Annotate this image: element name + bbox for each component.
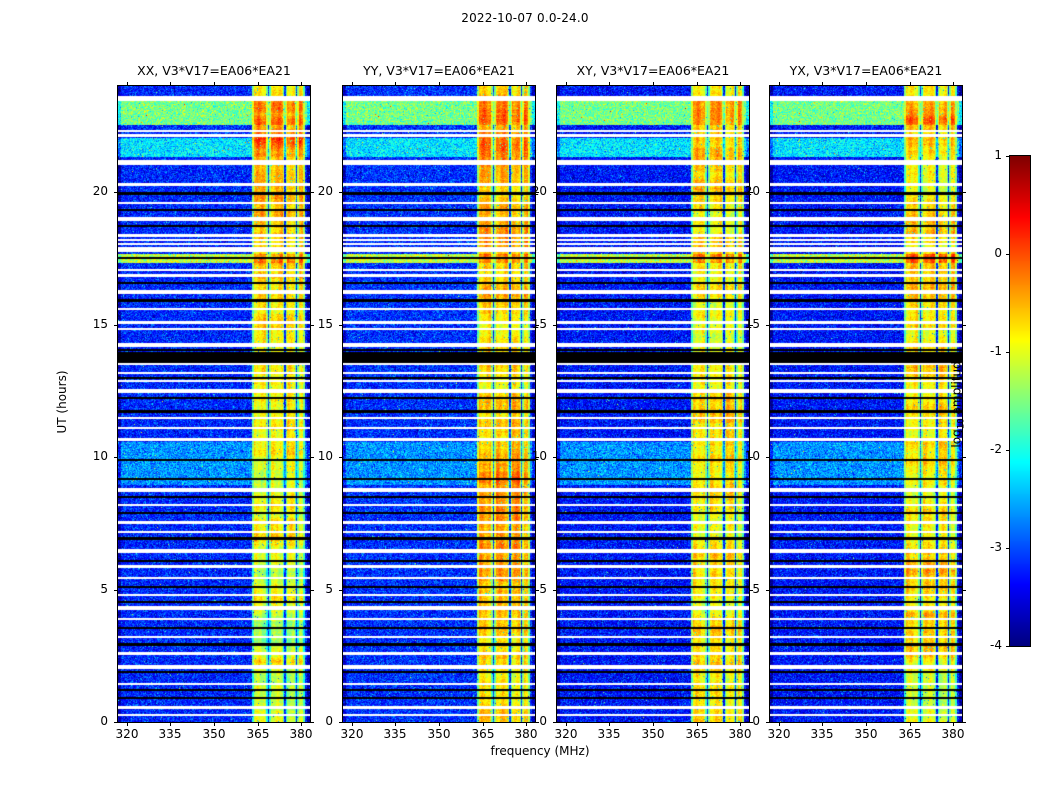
x-tick-label-yx-350: 350 bbox=[846, 727, 886, 741]
y-tick-label-xy-15: 15 bbox=[517, 317, 547, 331]
x-tick-top-yy-320 bbox=[352, 82, 353, 86]
x-tick-label-yy-320: 320 bbox=[332, 727, 372, 741]
y-tick-xy-15 bbox=[553, 325, 557, 326]
colorbar-gradient bbox=[1010, 156, 1030, 646]
y-tick-label-yy-20: 20 bbox=[303, 184, 333, 198]
x-tick-yx-320 bbox=[779, 722, 780, 726]
y-axis-label: UT (hours) bbox=[55, 357, 69, 447]
y-tick-yy-5 bbox=[339, 590, 343, 591]
y-tick-label-yy-10: 10 bbox=[303, 449, 333, 463]
y-tick-right-yx-5 bbox=[962, 590, 966, 591]
colorbar-label: log10 amplitude bbox=[949, 341, 966, 461]
y-tick-right-yx-0 bbox=[962, 722, 966, 723]
y-tick-label-xy-20: 20 bbox=[517, 184, 547, 198]
x-axis-label: frequency (MHz) bbox=[390, 744, 690, 758]
x-tick-yx-350 bbox=[866, 722, 867, 726]
x-tick-top-yy-380 bbox=[526, 82, 527, 86]
y-tick-label-yy-15: 15 bbox=[303, 317, 333, 331]
x-tick-top-xx-350 bbox=[214, 82, 215, 86]
waterfall-image-xy bbox=[557, 86, 749, 722]
x-tick-yx-335 bbox=[822, 722, 823, 726]
x-tick-top-xx-365 bbox=[258, 82, 259, 86]
waterfall-panel-yx[interactable]: YX, V3*V17=EA06*EA21 bbox=[769, 85, 963, 723]
x-tick-label-yy-335: 335 bbox=[375, 727, 415, 741]
panel-title-yx: YX, V3*V17=EA06*EA21 bbox=[736, 63, 996, 78]
x-tick-label-yx-320: 320 bbox=[759, 727, 799, 741]
y-tick-xx-15 bbox=[114, 325, 118, 326]
y-tick-xy-5 bbox=[553, 590, 557, 591]
x-tick-label-xx-380: 380 bbox=[281, 727, 321, 741]
waterfall-image-yx bbox=[770, 86, 962, 722]
y-tick-xy-10 bbox=[553, 457, 557, 458]
x-tick-top-xy-320 bbox=[566, 82, 567, 86]
x-tick-label-yx-380: 380 bbox=[933, 727, 973, 741]
y-tick-label-xx-10: 10 bbox=[78, 449, 108, 463]
y-tick-label-xy-10: 10 bbox=[517, 449, 547, 463]
y-tick-yx-0 bbox=[766, 722, 770, 723]
y-tick-label-yx-5: 5 bbox=[730, 582, 760, 596]
x-tick-label-xy-380: 380 bbox=[720, 727, 760, 741]
y-tick-yy-10 bbox=[339, 457, 343, 458]
y-tick-label-xx-0: 0 bbox=[78, 714, 108, 728]
x-tick-xy-350 bbox=[653, 722, 654, 726]
y-tick-xx-10 bbox=[114, 457, 118, 458]
x-tick-top-yy-350 bbox=[439, 82, 440, 86]
colorbar-tick-label-0: 0 bbox=[968, 246, 1002, 260]
x-tick-xx-320 bbox=[127, 722, 128, 726]
y-tick-right-yx-10 bbox=[962, 457, 966, 458]
waterfall-panel-xy[interactable]: XY, V3*V17=EA06*EA21 bbox=[556, 85, 750, 723]
colorbar-tick-1 bbox=[1006, 156, 1010, 157]
colorbar-tick--3 bbox=[1006, 548, 1010, 549]
x-tick-top-yy-365 bbox=[483, 82, 484, 86]
y-tick-label-xx-5: 5 bbox=[78, 582, 108, 596]
y-tick-label-yy-5: 5 bbox=[303, 582, 333, 596]
y-tick-label-xx-20: 20 bbox=[78, 184, 108, 198]
colorbar-tick-label--4: -4 bbox=[968, 638, 1002, 652]
colorbar bbox=[1009, 155, 1031, 647]
x-tick-label-yy-380: 380 bbox=[506, 727, 546, 741]
x-tick-top-yx-365 bbox=[910, 82, 911, 86]
waterfall-image-yy bbox=[343, 86, 535, 722]
x-tick-xx-365 bbox=[258, 722, 259, 726]
x-tick-xx-335 bbox=[170, 722, 171, 726]
x-tick-yy-350 bbox=[439, 722, 440, 726]
x-tick-label-xy-320: 320 bbox=[546, 727, 586, 741]
colorbar-tick--4 bbox=[1006, 646, 1010, 647]
x-tick-label-yy-365: 365 bbox=[463, 727, 503, 741]
y-tick-label-xy-5: 5 bbox=[517, 582, 547, 596]
waterfall-image-xx bbox=[118, 86, 310, 722]
y-tick-xy-0 bbox=[553, 722, 557, 723]
x-tick-top-yx-380 bbox=[953, 82, 954, 86]
y-tick-label-yx-20: 20 bbox=[730, 184, 760, 198]
x-tick-label-yx-335: 335 bbox=[802, 727, 842, 741]
waterfall-panel-yy[interactable]: YY, V3*V17=EA06*EA21 bbox=[342, 85, 536, 723]
x-tick-label-xy-365: 365 bbox=[677, 727, 717, 741]
x-tick-top-xx-320 bbox=[127, 82, 128, 86]
colorbar-tick-label--3: -3 bbox=[968, 540, 1002, 554]
y-tick-xx-20 bbox=[114, 192, 118, 193]
x-tick-xy-320 bbox=[566, 722, 567, 726]
x-tick-label-xx-320: 320 bbox=[107, 727, 147, 741]
y-tick-yx-20 bbox=[766, 192, 770, 193]
colorbar-tick-label--2: -2 bbox=[968, 442, 1002, 456]
x-tick-xx-380 bbox=[301, 722, 302, 726]
x-tick-xy-365 bbox=[697, 722, 698, 726]
y-tick-label-xy-0: 0 bbox=[517, 714, 547, 728]
x-tick-xy-335 bbox=[609, 722, 610, 726]
x-tick-top-xy-365 bbox=[697, 82, 698, 86]
x-tick-top-xy-335 bbox=[609, 82, 610, 86]
x-tick-top-xx-380 bbox=[301, 82, 302, 86]
y-tick-xy-20 bbox=[553, 192, 557, 193]
y-tick-yx-5 bbox=[766, 590, 770, 591]
waterfall-panel-xx[interactable]: XX, V3*V17=EA06*EA21 bbox=[117, 85, 311, 723]
x-tick-label-yy-350: 350 bbox=[419, 727, 459, 741]
x-tick-yy-335 bbox=[395, 722, 396, 726]
y-tick-yx-15 bbox=[766, 325, 770, 326]
figure-canvas: 2022-10-07 0.0-24.0 XX, V3*V17=EA06*EA21… bbox=[0, 0, 1050, 800]
colorbar-tick--2 bbox=[1006, 450, 1010, 451]
x-tick-yx-380 bbox=[953, 722, 954, 726]
x-tick-top-xy-380 bbox=[740, 82, 741, 86]
panel-title-xx: XX, V3*V17=EA06*EA21 bbox=[84, 63, 344, 78]
x-tick-yx-365 bbox=[910, 722, 911, 726]
x-tick-label-xx-335: 335 bbox=[150, 727, 190, 741]
y-tick-yy-15 bbox=[339, 325, 343, 326]
x-tick-top-yx-320 bbox=[779, 82, 780, 86]
y-tick-label-yx-0: 0 bbox=[730, 714, 760, 728]
y-tick-yx-10 bbox=[766, 457, 770, 458]
x-tick-label-xx-365: 365 bbox=[238, 727, 278, 741]
x-tick-label-xx-350: 350 bbox=[194, 727, 234, 741]
x-tick-top-xy-350 bbox=[653, 82, 654, 86]
y-tick-label-xx-15: 15 bbox=[78, 317, 108, 331]
y-tick-label-yy-0: 0 bbox=[303, 714, 333, 728]
x-tick-label-xy-335: 335 bbox=[589, 727, 629, 741]
y-tick-label-yx-15: 15 bbox=[730, 317, 760, 331]
colorbar-tick-0 bbox=[1006, 254, 1010, 255]
x-tick-top-yx-350 bbox=[866, 82, 867, 86]
x-tick-label-xy-350: 350 bbox=[633, 727, 673, 741]
y-tick-xx-5 bbox=[114, 590, 118, 591]
y-tick-right-yx-20 bbox=[962, 192, 966, 193]
y-tick-yy-20 bbox=[339, 192, 343, 193]
x-tick-top-yx-335 bbox=[822, 82, 823, 86]
x-tick-xx-350 bbox=[214, 722, 215, 726]
colorbar-tick-label-1: 1 bbox=[968, 148, 1002, 162]
y-tick-right-yx-15 bbox=[962, 325, 966, 326]
x-tick-yy-365 bbox=[483, 722, 484, 726]
x-tick-top-yy-335 bbox=[395, 82, 396, 86]
colorbar-tick--1 bbox=[1006, 352, 1010, 353]
x-tick-yy-320 bbox=[352, 722, 353, 726]
x-tick-top-xx-335 bbox=[170, 82, 171, 86]
y-tick-label-yx-10: 10 bbox=[730, 449, 760, 463]
figure-suptitle: 2022-10-07 0.0-24.0 bbox=[0, 11, 1050, 25]
y-tick-xx-0 bbox=[114, 722, 118, 723]
colorbar-tick-label--1: -1 bbox=[968, 344, 1002, 358]
x-tick-label-yx-365: 365 bbox=[890, 727, 930, 741]
y-tick-yy-0 bbox=[339, 722, 343, 723]
